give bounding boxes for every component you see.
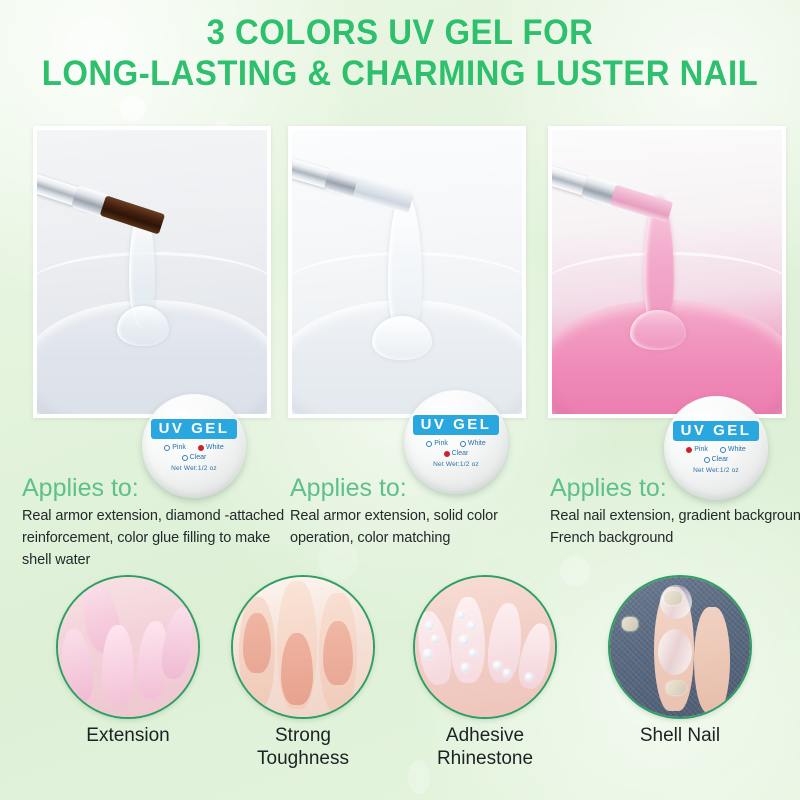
title-line-1: 3 COLORS UV GEL FOR — [24, 14, 776, 51]
jar-brand-label: UV GEL — [673, 421, 760, 441]
nail — [243, 613, 271, 673]
feature-image-toughness — [231, 575, 375, 719]
nail-photo-toughness — [233, 577, 373, 717]
gel-photo-clear — [37, 130, 267, 414]
rhinestone — [461, 663, 470, 672]
feature-caption-line2: Rhinestone — [410, 748, 560, 771]
radio-dot-selected — [686, 447, 692, 453]
rhinestone — [469, 649, 477, 657]
feature-caption: Extension — [53, 725, 203, 748]
nail — [323, 621, 353, 685]
jar-shade-options: Pink White Clear Net Wet:1/2 oz — [410, 439, 502, 470]
gel-drip-pool — [630, 310, 686, 350]
jar-net-weight: Net Wet:1/2 oz — [410, 460, 502, 469]
product-panel-pink — [548, 126, 786, 418]
radio-dot-selected — [444, 451, 450, 457]
jar-option-white[interactable]: White — [720, 445, 746, 455]
feature-caption: Adhesive Rhinestone — [410, 725, 560, 771]
rhinestone — [493, 661, 502, 670]
nail-photo-shell — [610, 577, 750, 717]
rhinestone — [503, 669, 511, 677]
finger — [694, 607, 730, 713]
jar-option-white[interactable]: White — [460, 439, 486, 449]
feature-image-extension — [56, 575, 200, 719]
gel-photo-white — [292, 130, 522, 414]
feature-caption-line1: Strong — [228, 725, 378, 748]
rhinestone — [425, 621, 434, 630]
feature-gallery: Extension Strong Toughness — [0, 575, 800, 790]
radio-dot — [182, 455, 188, 461]
radio-dot — [164, 445, 170, 451]
feature-image-rhinestone — [413, 575, 557, 719]
feature-extension[interactable]: Extension — [53, 575, 203, 748]
feature-caption: Shell Nail — [605, 725, 755, 748]
feature-strong-toughness[interactable]: Strong Toughness — [228, 575, 378, 771]
radio-dot — [426, 441, 432, 447]
nail-photo-extension — [58, 577, 198, 717]
radio-dot — [704, 457, 710, 463]
bokeh-decoration — [120, 96, 146, 122]
nail — [413, 609, 455, 687]
jar-option-pink[interactable]: Pink — [686, 445, 708, 455]
nail — [281, 633, 313, 705]
brush-bristles — [610, 185, 674, 223]
applies-text: Real armor extension, solid color operat… — [290, 506, 558, 550]
shell-flake — [666, 681, 686, 695]
jar-shade-options: Pink White Clear Net Wet:1/2 oz — [670, 445, 762, 476]
feature-caption-line1: Adhesive — [410, 725, 560, 748]
jar-brand-label: UV GEL — [413, 415, 500, 435]
product-panel-white — [288, 126, 526, 418]
jar-brand-label: UV GEL — [151, 419, 238, 439]
feature-adhesive-rhinestone[interactable]: Adhesive Rhinestone — [410, 575, 560, 771]
rhinestone — [459, 635, 469, 645]
jar-option-clear[interactable]: Clear — [704, 455, 729, 465]
nail — [102, 625, 134, 705]
product-panel-clear — [33, 126, 271, 418]
gel-photo-pink — [552, 130, 782, 414]
feature-caption: Strong Toughness — [228, 725, 378, 771]
rhinestone — [525, 673, 533, 681]
shell-nail — [658, 629, 692, 675]
product-panels: UV GEL Pink White Clear Net Wet:1/2 oz U… — [0, 126, 800, 418]
jar-option-clear[interactable]: Clear — [444, 449, 469, 459]
nail — [158, 605, 198, 681]
jar-option-pink[interactable]: Pink — [426, 439, 448, 449]
radio-dot — [720, 447, 726, 453]
jar-option-clear[interactable]: Clear — [182, 453, 207, 463]
applies-heading: Applies to: — [22, 474, 290, 503]
gel-drip-pool — [117, 306, 169, 346]
applies-text: Real nail extension, gradient background… — [550, 506, 800, 550]
jar-net-weight: Net Wet:1/2 oz — [148, 464, 240, 473]
brush-bristles — [353, 177, 415, 213]
radio-dot-selected — [198, 445, 204, 451]
gel-drip-pool — [372, 316, 432, 360]
title-line-2: LONG-LASTING & CHARMING LUSTER NAIL — [24, 55, 776, 92]
page-title: 3 COLORS UV GEL FOR LONG-LASTING & CHARM… — [0, 14, 800, 92]
feature-caption-line2: Toughness — [228, 748, 378, 771]
rhinestone — [457, 611, 465, 619]
shell-flake — [622, 617, 638, 631]
jar-shade-options: Pink White Clear Net Wet:1/2 oz — [148, 443, 240, 474]
rhinestone — [431, 635, 439, 643]
shell-flake — [664, 591, 682, 605]
rhinestone — [423, 649, 433, 659]
feature-image-shell — [608, 575, 752, 719]
jar-option-pink[interactable]: Pink — [164, 443, 186, 453]
nail-photo-rhinestone — [415, 577, 555, 717]
radio-dot — [460, 441, 466, 447]
applies-heading: Applies to: — [550, 474, 800, 503]
applies-heading: Applies to: — [290, 474, 558, 503]
applies-block-clear: Applies to: Real armor extension, diamon… — [22, 474, 290, 571]
applies-block-pink: Applies to: Real nail extension, gradien… — [550, 474, 800, 550]
feature-shell-nail[interactable]: Shell Nail — [605, 575, 755, 748]
rhinestone — [467, 621, 476, 630]
applies-block-white: Applies to: Real armor extension, solid … — [290, 474, 558, 550]
jar-option-white[interactable]: White — [198, 443, 224, 453]
applies-text: Real armor extension, diamond -attached … — [22, 506, 290, 571]
